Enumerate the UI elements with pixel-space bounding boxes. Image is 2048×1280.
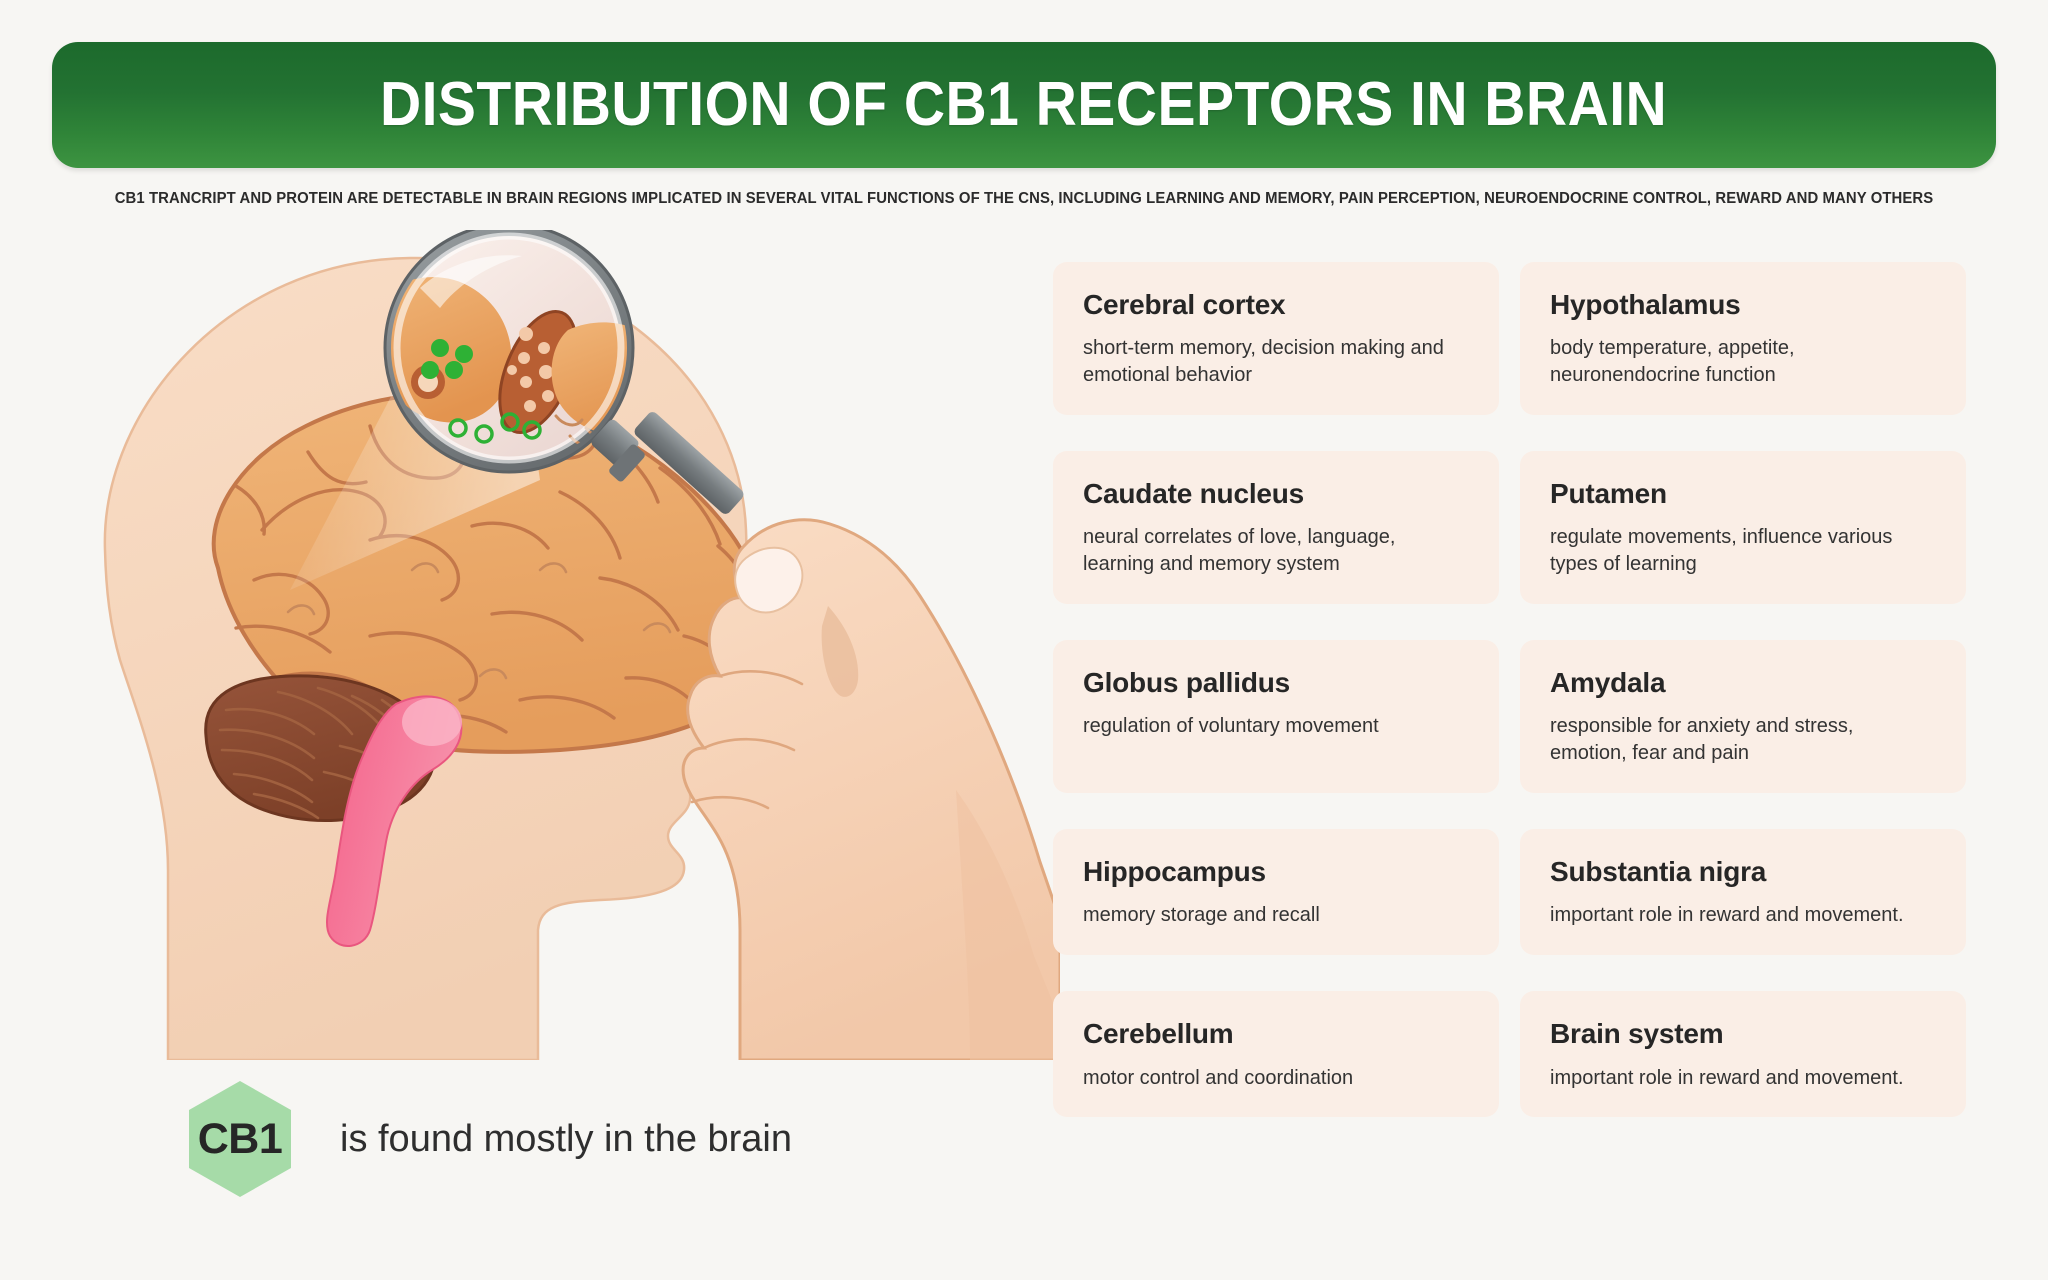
region-card-putamen[interactable]: Putamen regulate movements, influence va… (1520, 451, 1966, 604)
region-description: responsible for anxiety and stress, emot… (1550, 713, 1930, 767)
region-card-amydala[interactable]: Amydala responsible for anxiety and stre… (1520, 640, 1966, 793)
region-description: neural correlates of love, language, lea… (1083, 524, 1463, 578)
region-title: Hypothalamus (1550, 290, 1936, 319)
region-description: important role in reward and movement. (1550, 902, 1930, 929)
region-title: Hippocampus (1083, 857, 1469, 886)
region-card-cerebral-cortex[interactable]: Cerebral cortex short-term memory, decis… (1053, 262, 1499, 415)
region-card-brain-system[interactable]: Brain system important role in reward an… (1520, 991, 1966, 1117)
hand-illustration (683, 520, 1060, 1060)
header-subtitle: CB1 TRANCRIPT AND PROTEIN ARE DETECTABLE… (41, 190, 2007, 208)
region-title: Substantia nigra (1550, 857, 1936, 886)
header-banner: DISTRIBUTION OF CB1 RECEPTORS IN BRAIN (52, 42, 1996, 168)
region-title: Cerebral cortex (1083, 290, 1469, 319)
page-title: DISTRIBUTION OF CB1 RECEPTORS IN BRAIN (380, 74, 1667, 136)
region-card-hypothalamus[interactable]: Hypothalamus body temperature, appetite,… (1520, 262, 1966, 415)
cb1-badge-label: CB1 (188, 1080, 292, 1198)
brain-illustration (40, 230, 1060, 1060)
cb1-badge-row: CB1 is found mostly in the brain (188, 1080, 792, 1198)
region-card-hippocampus[interactable]: Hippocampus memory storage and recall (1053, 829, 1499, 955)
cb1-caption: is found mostly in the brain (340, 1118, 792, 1161)
region-title: Cerebellum (1083, 1019, 1469, 1048)
region-card-substantia-nigra[interactable]: Substantia nigra important role in rewar… (1520, 829, 1966, 955)
region-description: regulate movements, influence various ty… (1550, 524, 1930, 578)
region-description: regulation of voluntary movement (1083, 713, 1463, 740)
region-title: Globus pallidus (1083, 668, 1469, 697)
region-description: motor control and coordination (1083, 1065, 1463, 1092)
brain-region-card-grid: Cerebral cortex short-term memory, decis… (1053, 262, 1998, 1117)
region-description: short-term memory, decision making and e… (1083, 335, 1463, 389)
region-title: Brain system (1550, 1019, 1936, 1048)
cb1-hexagon-badge: CB1 (188, 1080, 292, 1198)
region-description: memory storage and recall (1083, 902, 1463, 929)
region-card-caudate-nucleus[interactable]: Caudate nucleus neural correlates of lov… (1053, 451, 1499, 604)
region-title: Caudate nucleus (1083, 479, 1469, 508)
region-card-globus-pallidus[interactable]: Globus pallidus regulation of voluntary … (1053, 640, 1499, 793)
region-description: body temperature, appetite, neuronendocr… (1550, 335, 1930, 389)
region-card-cerebellum[interactable]: Cerebellum motor control and coordinatio… (1053, 991, 1499, 1117)
region-title: Putamen (1550, 479, 1936, 508)
region-description: important role in reward and movement. (1550, 1065, 1930, 1092)
region-title: Amydala (1550, 668, 1936, 697)
